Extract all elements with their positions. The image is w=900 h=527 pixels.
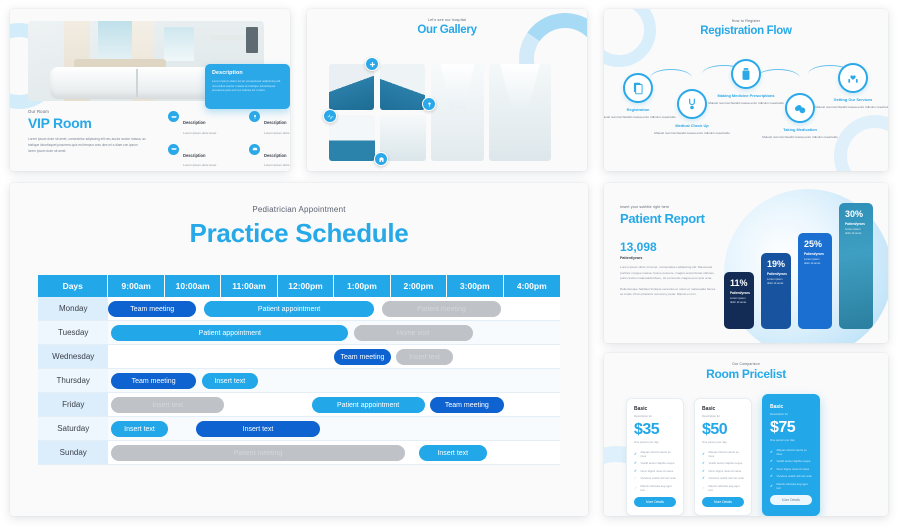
schedule-table: Days9:00am10:00am11:00am12:00pm1:00pm2:0…: [38, 275, 560, 465]
schedule-row: FridayInsert textPatient appointmentTeam…: [38, 393, 560, 417]
schedule-lane: Team meetingPatient appointmentPatient m…: [108, 297, 560, 321]
vip-room-paragraph: Lorem ipsum dolor sit amet, consectetur …: [28, 137, 146, 155]
schedule-column-header: 9:00am: [108, 275, 164, 297]
pricing-per-unit: One person per day: [702, 440, 744, 444]
schedule-event-blue[interactable]: Patient appointment: [312, 397, 425, 413]
pricing-feature-list: ✓Aliquam tincid mauris eu risus✓Vestib a…: [770, 448, 812, 490]
schedule-row: SundayPatient meetingInsert text: [38, 441, 560, 465]
pricing-feature-item: ✓Vivamus vestib null nec ante: [770, 474, 812, 478]
bar-series-label: Patient/years: [767, 272, 785, 276]
pricing-plan-name: Basic: [634, 406, 676, 412]
schedule-event-blue[interactable]: Insert text: [419, 445, 487, 461]
flow-step-label: Getting Our Services: [813, 97, 888, 102]
check-icon: ✓: [634, 486, 638, 490]
slide-registration-flow[interactable]: How to Register Registration Flow Regist…: [604, 9, 888, 171]
schedule-title: Practice Schedule: [10, 218, 588, 249]
pricing-feature-text: Aliquam tincid mauris eu risus: [776, 448, 812, 456]
slide-patient-report[interactable]: Insert your subtitle right here Patient …: [604, 183, 888, 343]
slide-vip-room[interactable]: Description Lorem ipsum dolor sit sic co…: [10, 9, 290, 171]
schedule-column-header: 12:00pm: [278, 275, 334, 297]
feature-item[interactable]: Description Lorem ipsum dolor amet: [249, 144, 290, 168]
gallery-photo[interactable]: [380, 64, 425, 110]
check-icon: ✓: [770, 474, 774, 478]
pricing-feature-text: Aliquam tincid mauris eu risus: [640, 450, 676, 458]
pricing-plan-name: Basic: [702, 406, 744, 412]
patient-report-big-number-label: Patient/years: [620, 256, 718, 260]
gallery-photo[interactable]: [380, 115, 426, 161]
tv: [246, 27, 258, 53]
schedule-header-row: Days9:00am10:00am11:00am12:00pm1:00pm2:0…: [38, 275, 560, 297]
check-icon: ✓: [702, 461, 706, 465]
schedule-event-dark[interactable]: Team meeting: [111, 373, 196, 389]
bar-note: Lorem ipsum dolor sit amet.: [804, 258, 826, 267]
schedule-body: MondayTeam meetingPatient appointmentPat…: [38, 297, 560, 465]
schedule-day-cell: Tuesday: [38, 321, 108, 345]
pricelist-kicker: Our Comparison: [604, 362, 888, 366]
gallery-grid: [329, 64, 551, 161]
check-icon: ✓: [770, 459, 774, 463]
bar-series-label: Patient/years: [845, 222, 867, 226]
feature-title: Description: [264, 153, 287, 158]
chart-bar[interactable]: 30% Patient/years Lorem ipsum dolor sit …: [839, 203, 873, 329]
pricing-feature-text: Vivamus vestib null nec ante: [777, 474, 812, 478]
registration-flow-diagram: Registration Molesti nummsi blandit mass…: [604, 55, 888, 165]
check-icon: ✓: [770, 484, 774, 488]
bed: [50, 67, 230, 99]
check-icon: ✓: [702, 452, 706, 456]
feature-text: Lorem ipsum dolor amet: [264, 163, 290, 167]
schedule-event-dark[interactable]: Team meeting: [430, 397, 503, 413]
check-icon: ✓: [634, 452, 638, 456]
check-icon: ✓: [702, 476, 706, 480]
schedule-row: ThursdayTeam meetingInsert text: [38, 369, 560, 393]
pricing-feature-item: ✓Mauris vehicula aug eget luct: [702, 484, 744, 492]
gallery-photo[interactable]: [329, 64, 374, 110]
patient-report-title: Patient Report: [620, 211, 718, 226]
pricing-feature-text: Aliquam tincid mauris eu risus: [708, 450, 744, 458]
pricelist-title: Room Pricelist: [604, 367, 888, 381]
schedule-header: Pediatrician Appointment Practice Schedu…: [10, 205, 588, 249]
pill-icon: [785, 93, 815, 123]
chart-bar[interactable]: 25% Patient/years Lorem ipsum dolor sit …: [798, 233, 832, 329]
schedule-table-wrap: Days9:00am10:00am11:00am12:00pm1:00pm2:0…: [38, 275, 560, 465]
schedule-column-header: 1:00pm: [334, 275, 390, 297]
feature-text: Lorem ipsum dolor amet: [183, 131, 216, 135]
check-icon: ✓: [634, 461, 638, 465]
pricing-price: $35: [634, 421, 676, 439]
schedule-day-cell: Wednesday: [38, 345, 108, 369]
gallery-kicker: Let's see our hospital: [307, 18, 587, 22]
document-icon: [623, 73, 653, 103]
schedule-row: SaturdayInsert textInsert text: [38, 417, 560, 441]
pricing-plan-name: Basic: [770, 404, 812, 410]
hospital-icon: [374, 152, 388, 166]
schedule-event-grey[interactable]: Home visit: [354, 325, 473, 341]
bar-value-label: 19%: [767, 260, 785, 269]
schedule-event-blue[interactable]: Insert text: [202, 373, 258, 389]
flow-step-text: Molesti nummsi blandit massa enim ridicu…: [813, 105, 888, 110]
patient-report-big-number: 13,098: [620, 240, 718, 254]
schedule-column-header: 11:00am: [221, 275, 277, 297]
schedule-lane: Patient appointmentHome visit: [108, 321, 560, 345]
pricing-feature-item: ✓Aliquam tincid mauris eu risus: [770, 448, 812, 456]
pricing-feature-item: ✓Vestib auctor dapibu neque: [702, 461, 744, 465]
bar-note: Lorem ipsum dolor sit amet.: [767, 278, 785, 287]
bar-value-label: 11%: [730, 279, 748, 288]
schedule-event-dark[interactable]: Team meeting: [334, 349, 390, 365]
flow-step-text: Molesti nummsi blandit massa enim ridicu…: [652, 131, 732, 136]
schedule-event-blue[interactable]: Patient appointment: [111, 325, 348, 341]
feature-item[interactable]: Description Lorem ipsum dolor amet: [168, 111, 239, 135]
pricing-feature-item: ✓Mauris vehicula aug eget luct: [770, 482, 812, 490]
pricing-feature-text: Vestib auctor dapibu neque: [709, 461, 743, 465]
gallery-photo[interactable]: [329, 115, 375, 161]
pricing-feature-item: ✓Mauris vehicula aug eget luct: [634, 484, 676, 492]
pricing-feature-item: ✓Vestib auctor dapibu neque: [634, 461, 676, 465]
schedule-event-grey[interactable]: Insert text: [396, 349, 452, 365]
registration-kicker: How to Register: [604, 19, 888, 23]
pricing-feature-text: Nunc dignis risus id metus: [777, 467, 810, 471]
pricing-feature-item: ✓Aliquam tincid mauris eu risus: [634, 450, 676, 458]
pricing-feature-list: ✓Aliquam tincid mauris eu risus✓Vestib a…: [634, 450, 676, 492]
pricing-feature-text: Nunc dignis risus id metus: [641, 469, 674, 473]
schedule-day-cell: Sunday: [38, 441, 108, 465]
schedule-column-header: 10:00am: [165, 275, 221, 297]
check-icon: ✓: [634, 476, 638, 480]
pricing-feature-item: ✓Vestib auctor dapibu neque: [770, 459, 812, 463]
description-card-title: Description: [212, 70, 283, 76]
registration-header: How to Register Registration Flow: [604, 19, 888, 37]
bar-note: Lorem ipsum dolor sit amet.: [845, 228, 867, 237]
window-right: [164, 27, 194, 61]
pricelist-header: Our Comparison Room Pricelist: [604, 362, 888, 381]
pricing-feature-text: Mauris vehicula aug eget luct: [708, 484, 744, 492]
bar-note: Lorem ipsum dolor sit amet.: [730, 297, 748, 306]
feature-title: Description: [183, 153, 206, 158]
schedule-event-blue[interactable]: Patient appointment: [204, 301, 373, 317]
pricing-per-unit: One person per day: [634, 440, 676, 444]
pricing-feature-item: ✓Nunc dignis risus id metus: [634, 469, 676, 473]
check-icon: ✓: [702, 469, 706, 473]
sofa-icon: [249, 144, 260, 155]
pricing-feature-item: ✓Nunc dignis risus id metus: [702, 469, 744, 473]
schedule-kicker: Pediatrician Appointment: [10, 205, 588, 214]
patient-report-text: Insert your subtitle right here Patient …: [620, 205, 718, 298]
feature-text: Lorem ipsum dolor amet: [183, 163, 216, 167]
schedule-event-grey[interactable]: Insert text: [111, 397, 224, 413]
vip-room-feature-grid: Description Lorem ipsum dolor amet Descr…: [168, 111, 290, 167]
more-details-button[interactable]: More Details: [634, 497, 676, 507]
flow-step-text: Molesti nummsi blandit massa enim ridicu…: [760, 135, 840, 140]
schedule-lane: Patient meetingInsert text: [108, 441, 560, 465]
chart-bar[interactable]: 19% Patient/years Lorem ipsum dolor sit …: [761, 253, 791, 329]
patient-report-kicker: Insert your subtitle right here: [620, 205, 718, 209]
pricing-description-for: Description for: [770, 412, 812, 416]
description-callout-card: Description Lorem ipsum dolor sit sic co…: [205, 64, 290, 109]
slide-room-pricelist[interactable]: Our Comparison Room Pricelist BasicDescr…: [604, 353, 888, 516]
pricing-per-unit: One person per day: [770, 438, 812, 442]
check-icon: ✓: [770, 450, 774, 454]
schedule-day-cell: Saturday: [38, 417, 108, 441]
more-details-button[interactable]: More Details: [770, 495, 812, 505]
gallery-photo[interactable]: [431, 64, 484, 161]
heart-hands-icon: [838, 63, 868, 93]
gallery-column: [380, 64, 426, 161]
vip-room-body: Our Room VIP Room Lorem ipsum dolor sit …: [28, 109, 272, 155]
pricing-feature-text: Vivamus vestib null nec ante: [641, 476, 676, 480]
more-details-button[interactable]: More Details: [702, 497, 744, 507]
schedule-day-cell: Thursday: [38, 369, 108, 393]
patient-report-bar-chart: 11% Patient/years Lorem ipsum dolor sit …: [724, 203, 880, 329]
pricing-feature-text: Vestib auctor dapibu neque: [641, 461, 675, 465]
chart-bar[interactable]: 11% Patient/years Lorem ipsum dolor sit …: [724, 272, 754, 329]
schedule-row: MondayTeam meetingPatient appointmentPat…: [38, 297, 560, 321]
schedule-day-cell: Friday: [38, 393, 108, 417]
stethoscope-icon: [422, 97, 436, 111]
check-icon: ✓: [702, 486, 706, 490]
shower-icon: [249, 111, 260, 122]
pricing-feature-text: Nunc dignis risus id metus: [709, 469, 742, 473]
bed-icon: [168, 111, 179, 122]
pricing-price: $50: [702, 421, 744, 439]
schedule-lane: Insert textPatient appointmentTeam meeti…: [108, 393, 560, 417]
flow-step-label: Taking Medication: [760, 127, 840, 132]
check-icon: ✓: [634, 469, 638, 473]
schedule-row: TuesdayPatient appointmentHome visit: [38, 321, 560, 345]
schedule-lane: Insert textInsert text: [108, 417, 560, 441]
flow-step-label: Medical Check Up: [652, 123, 732, 128]
pricing-feature-item: ✓Aliquam tincid mauris eu risus: [702, 450, 744, 458]
pricing-feature-item: ✓Vivamus vestib null nec ante: [702, 476, 744, 480]
feature-title: Description: [183, 120, 206, 125]
pricing-cards: BasicDescription for$35One person per da…: [626, 394, 820, 516]
bed-icon: [168, 144, 179, 155]
slide-deck-preview: Description Lorem ipsum dolor sit sic co…: [0, 0, 900, 527]
pricing-feature-text: Mauris vehicula aug eget luct: [776, 482, 812, 490]
pricing-price: $75: [770, 419, 812, 437]
pricing-description-for: Description for: [634, 414, 676, 418]
schedule-column-header: Days: [38, 275, 108, 297]
schedule-event-grey[interactable]: Patient meeting: [382, 301, 501, 317]
schedule-lane: Team meetingInsert text: [108, 345, 560, 369]
gallery-title: Our Gallery: [307, 24, 587, 36]
slide-our-gallery[interactable]: Let's see our hospital Our Gallery: [307, 9, 587, 171]
pricing-feature-text: Vestib auctor dapibu neque: [777, 459, 811, 463]
pricing-card[interactable]: BasicDescription for$35One person per da…: [626, 398, 684, 516]
schedule-row: WednesdayTeam meetingInsert text: [38, 345, 560, 369]
feature-text: Lorem ipsum dolor amet: [264, 131, 290, 135]
schedule-event-blue[interactable]: Insert text: [111, 421, 167, 437]
flow-step-getting-our-services[interactable]: Getting Our Services Molesti nummsi blan…: [813, 63, 888, 110]
patient-report-paragraph-1: Lorem ipsum dolor sit amet, consectetuer…: [620, 265, 718, 282]
gallery-header: Let's see our hospital Our Gallery: [307, 18, 587, 36]
pricing-feature-item: ✓Vivamus vestib null nec ante: [634, 476, 676, 480]
bar-series-label: Patient/years: [804, 252, 826, 256]
registration-title: Registration Flow: [604, 25, 888, 37]
plus-icon: [365, 57, 379, 71]
pricing-feature-list: ✓Aliquam tincid mauris eu risus✓Vestib a…: [702, 450, 744, 492]
pricing-description-for: Description for: [702, 414, 744, 418]
pricing-feature-item: ✓Nunc dignis risus id metus: [770, 467, 812, 471]
feature-item[interactable]: Description Lorem ipsum dolor amet: [249, 111, 290, 135]
bar-series-label: Patient/years: [730, 291, 748, 295]
schedule-lane: Team meetingInsert text: [108, 369, 560, 393]
bar-value-label: 30%: [845, 210, 867, 219]
schedule-column-header: 3:00pm: [447, 275, 503, 297]
gallery-photo[interactable]: [489, 64, 551, 161]
pricing-card[interactable]: BasicDescription for$50One person per da…: [694, 398, 752, 516]
patient-report-paragraph-2: Pellentesque habitant tristique senectus…: [620, 287, 718, 298]
schedule-column-header: 2:00pm: [391, 275, 447, 297]
pricing-feature-text: Mauris vehicula aug eget luct: [640, 484, 676, 492]
schedule-event-dark[interactable]: Insert text: [196, 421, 320, 437]
check-icon: ✓: [770, 467, 774, 471]
schedule-day-cell: Monday: [38, 297, 108, 321]
schedule-column-header: 4:00pm: [504, 275, 560, 297]
pulse-icon: [323, 109, 337, 123]
stethoscope-icon: [677, 89, 707, 119]
bar-value-label: 25%: [804, 240, 826, 249]
feature-item[interactable]: Description Lorem ipsum dolor amet: [168, 144, 239, 168]
schedule-event-grey[interactable]: Patient meeting: [111, 445, 404, 461]
schedule-event-dark[interactable]: Team meeting: [108, 301, 195, 317]
medicine-bottle-icon: [731, 59, 761, 89]
pricing-feature-text: Vivamus vestib null nec ante: [709, 476, 744, 480]
slide-practice-schedule[interactable]: Pediatrician Appointment Practice Schedu…: [10, 183, 588, 516]
description-card-text: Lorem ipsum dolor sit sic consectetur ad…: [212, 79, 283, 93]
feature-title: Description: [264, 120, 287, 125]
pricing-card[interactable]: BasicDescription for$75One person per da…: [762, 394, 820, 516]
